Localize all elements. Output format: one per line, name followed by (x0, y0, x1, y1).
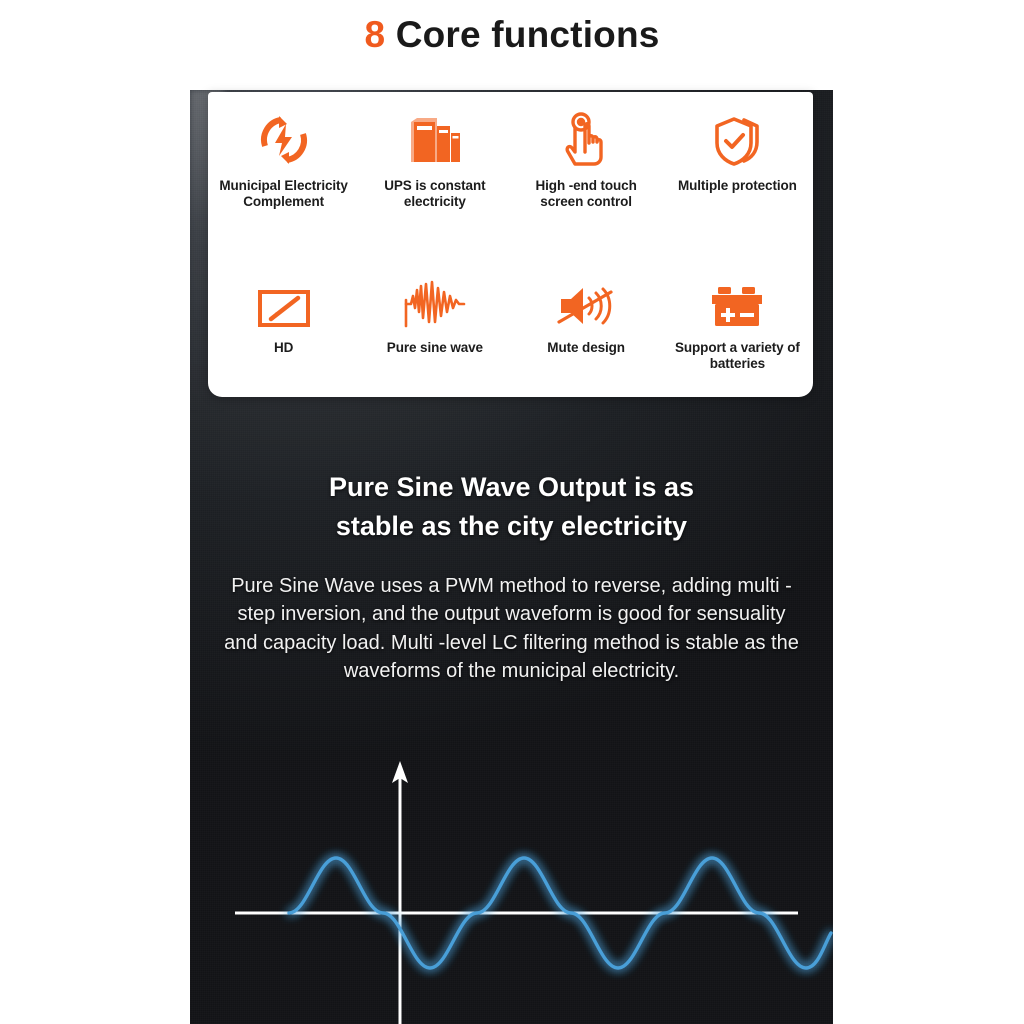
feature-card: Municipal Electricity Complement (208, 92, 813, 397)
feature-item-pure-sine-wave[interactable]: Pure sine wave (359, 272, 510, 372)
feature-item-municipal-electricity[interactable]: Municipal Electricity Complement (208, 110, 359, 210)
feature-label: Multiple protection (678, 178, 797, 194)
feature-label: Mute design (547, 340, 625, 356)
feature-item-ups-constant[interactable]: UPS is constant electricity (359, 110, 510, 210)
section-headline: Pure Sine Wave Output is as stable as th… (190, 468, 833, 546)
headline-line-1: Pure Sine Wave Output is as (190, 468, 833, 507)
ups-cabinet-icon (407, 110, 463, 168)
feature-item-multiple-protection[interactable]: Multiple protection (662, 110, 813, 210)
shield-check-icon (709, 110, 765, 168)
battery-icon (709, 272, 765, 330)
mute-speaker-icon (555, 272, 617, 330)
touch-hand-icon (561, 110, 611, 168)
page-title-text: Core functions (385, 14, 659, 55)
hd-screen-icon (256, 272, 312, 330)
sine-wave-chart (190, 755, 833, 1024)
feature-label: Pure sine wave (387, 340, 483, 356)
page-title-number: 8 (364, 14, 385, 55)
feature-item-touch-screen[interactable]: High -end touch screen control (511, 110, 662, 210)
feature-item-mute-design[interactable]: Mute design (511, 272, 662, 372)
headline-line-2: stable as the city electricity (190, 507, 833, 546)
product-infographic-page: 8 Core functions (0, 0, 1024, 1024)
recycle-lightning-icon (255, 110, 313, 168)
section-body-text: Pure Sine Wave uses a PWM method to reve… (224, 572, 799, 686)
feature-label: Municipal Electricity Complement (218, 178, 350, 210)
feature-item-battery-support[interactable]: Support a variety of batteries (662, 272, 813, 372)
feature-icon-grid: Municipal Electricity Complement (208, 110, 813, 372)
feature-label: HD (274, 340, 293, 356)
feature-label: High -end touch screen control (520, 178, 652, 210)
feature-label: UPS is constant electricity (369, 178, 501, 210)
sine-waveform-icon (402, 272, 468, 330)
page-title: 8 Core functions (0, 14, 1024, 56)
feature-label: Support a variety of batteries (671, 340, 803, 372)
feature-item-hd[interactable]: HD (208, 272, 359, 372)
